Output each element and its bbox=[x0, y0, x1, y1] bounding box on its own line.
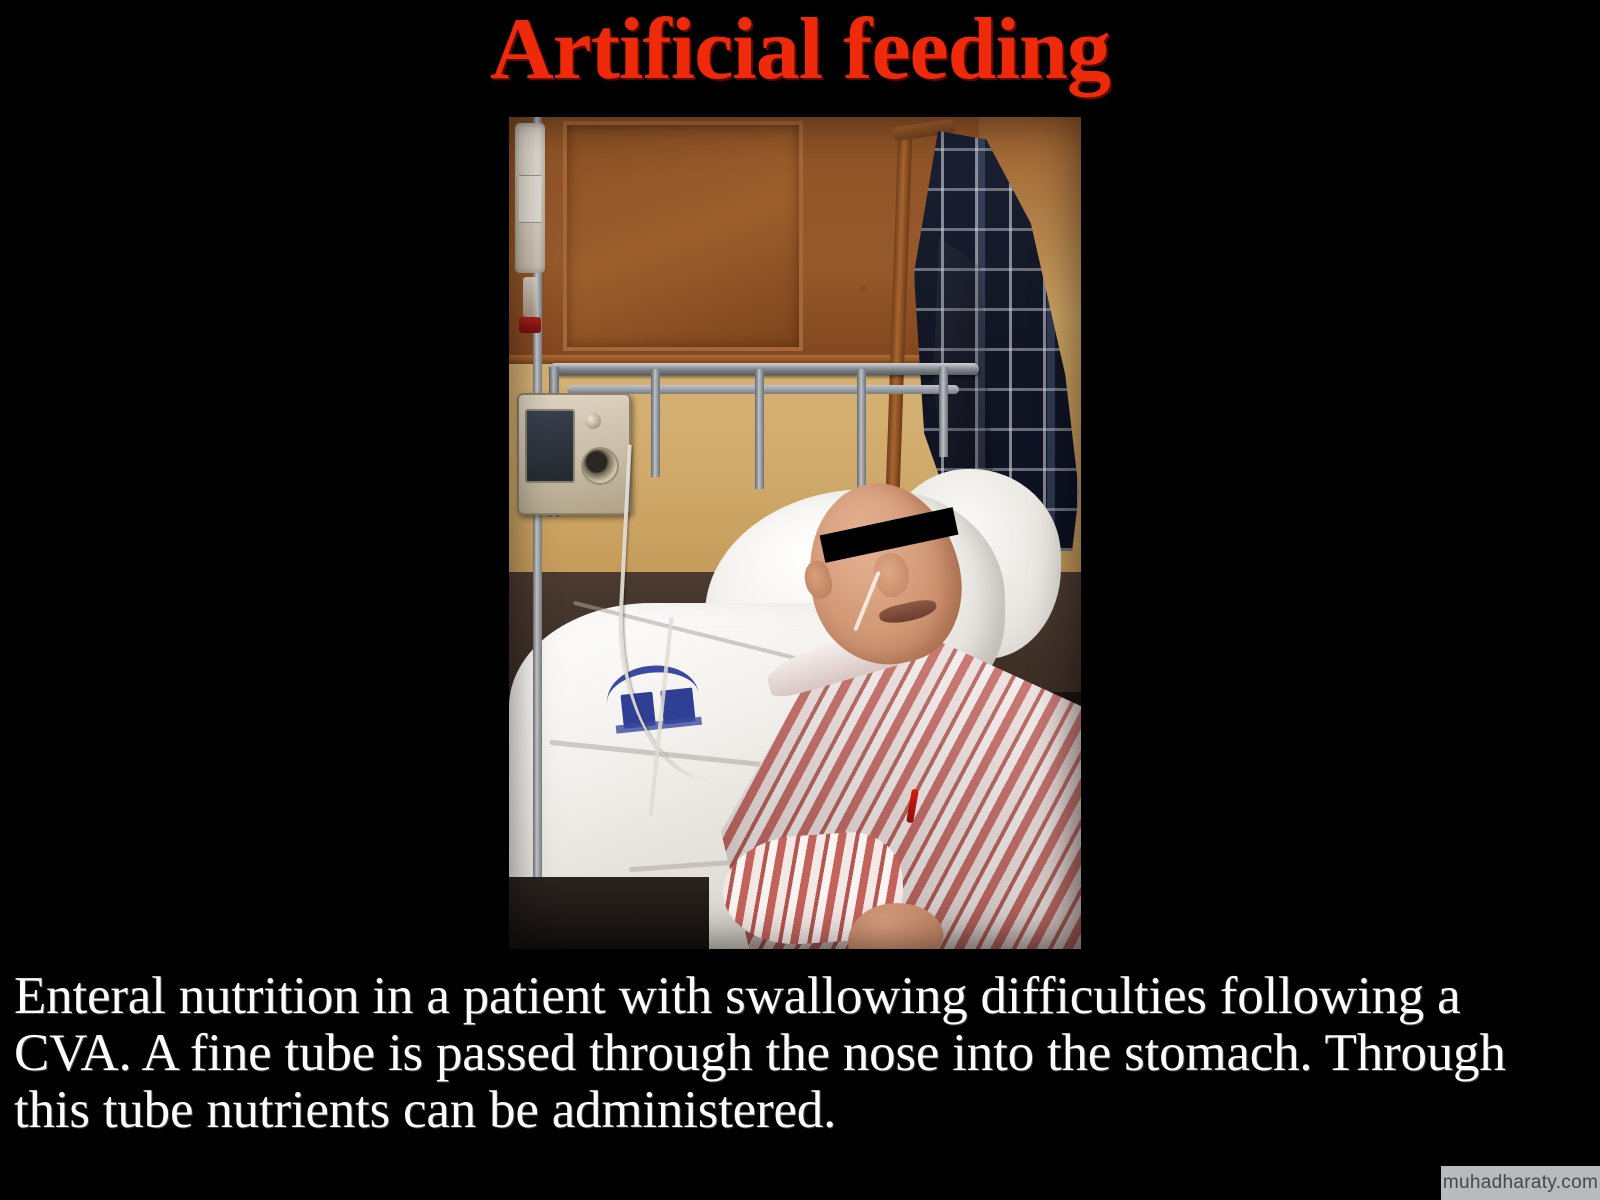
feeding-pump-knob bbox=[585, 413, 601, 429]
feed-bag-label bbox=[519, 175, 541, 223]
bed-lower-shadow bbox=[509, 877, 709, 949]
bed-rail-post bbox=[857, 369, 866, 495]
slide-caption: Enteral nutrition in a patient with swal… bbox=[14, 968, 1554, 1139]
site-watermark: muhadharaty.com bbox=[1441, 1166, 1600, 1200]
clinical-photograph bbox=[509, 117, 1081, 949]
bed-rail-post bbox=[755, 369, 764, 489]
drip-chamber bbox=[523, 277, 537, 317]
feeding-pump-rotor bbox=[581, 447, 619, 485]
watermark-text: muhadharaty.com bbox=[1443, 1172, 1598, 1194]
bed-rail-top bbox=[549, 363, 979, 375]
slide-canvas: Artificial feeding bbox=[0, 0, 1600, 1200]
red-tube-clamp bbox=[519, 317, 541, 333]
feeding-pump-display bbox=[525, 409, 575, 483]
bed-rail-post bbox=[939, 367, 948, 457]
page-title: Artificial feeding bbox=[0, 2, 1600, 98]
cork-notice-board bbox=[563, 121, 803, 351]
